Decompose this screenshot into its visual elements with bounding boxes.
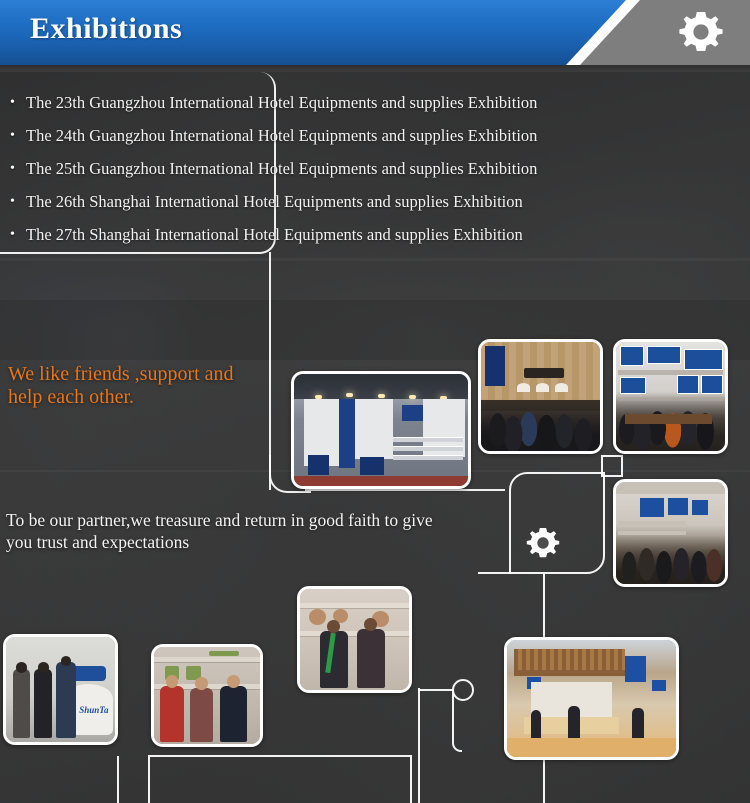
list-item: The 25th Guangzhou International Hotel E…: [8, 152, 618, 185]
list-item: The 24th Guangzhou International Hotel E…: [8, 119, 618, 152]
photo-shunta-booth[interactable]: [478, 339, 603, 454]
gear-icon: [677, 8, 725, 56]
photo-booth-overview[interactable]: [291, 371, 471, 489]
photo-ceramics-stand[interactable]: [613, 479, 728, 587]
list-item: The 23th Guangzhou International Hotel E…: [8, 86, 618, 119]
connector-rectangle: [148, 755, 412, 803]
connector-line-vertical: [418, 688, 420, 803]
brand-label: ShunTa: [79, 705, 108, 715]
photo-image: [154, 647, 260, 744]
photo-image: [616, 482, 725, 584]
photo-partners-redvest[interactable]: [151, 644, 263, 747]
header-underline: [0, 65, 750, 72]
photo-image: [481, 342, 600, 451]
slogan-white: To be our partner,we treasure and return…: [6, 509, 446, 553]
connector-line-vertical: [117, 756, 119, 803]
photo-image: [616, 342, 725, 451]
connector-line-horizontal: [478, 572, 511, 574]
list-item: The 26th Shanghai International Hotel Eq…: [8, 185, 618, 218]
photo-image: ShunTa: [6, 637, 115, 742]
exhibitions-list: The 23th Guangzhou International Hotel E…: [8, 86, 618, 251]
connector-line-horizontal: [418, 689, 454, 691]
page-header: Exhibitions: [0, 0, 750, 65]
photo-image: [300, 589, 409, 690]
connector-arm: [452, 689, 462, 752]
photo-image: [294, 374, 468, 486]
background-stripe: [0, 258, 750, 261]
connector-line-horizontal: [305, 489, 505, 491]
photo-partners-pair[interactable]: [297, 586, 412, 693]
photo-image: [507, 640, 676, 757]
list-item: The 27th Shanghai International Hotel Eq…: [8, 218, 618, 251]
photo-team-office[interactable]: ShunTa: [3, 634, 118, 745]
slogan-orange: We like friends ,support and help each o…: [8, 363, 268, 409]
photo-wood-pavilion[interactable]: [504, 637, 679, 760]
exhibitions-page: Exhibitions The 23th Guangzhou Internati…: [0, 0, 750, 803]
gear-icon: [525, 525, 561, 561]
photo-shelf-display[interactable]: [613, 339, 728, 454]
page-title: Exhibitions: [30, 12, 182, 46]
